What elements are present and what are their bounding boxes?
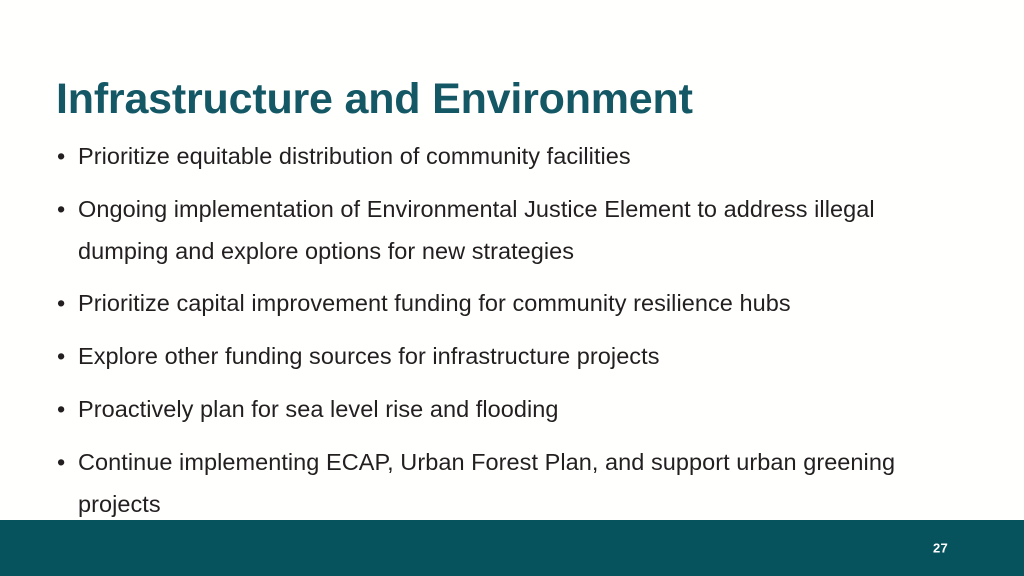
presentation-slide: Infrastructure and Environment • Priorit… (0, 0, 1024, 576)
list-item-text: Explore other funding sources for infras… (78, 336, 956, 378)
list-item: • Explore other funding sources for infr… (56, 336, 956, 378)
bullet-list: • Prioritize equitable distribution of c… (56, 136, 956, 526)
bullet-dot-icon: • (57, 336, 65, 378)
list-item: • Prioritize equitable distribution of c… (56, 136, 956, 178)
list-item-text: Prioritize equitable distribution of com… (78, 136, 956, 178)
bullet-dot-icon: • (57, 389, 65, 431)
bullet-dot-icon: • (57, 442, 65, 484)
list-item-text: Ongoing implementation of Environmental … (78, 189, 956, 273)
bullet-dot-icon: • (57, 189, 65, 231)
list-item: • Proactively plan for sea level rise an… (56, 389, 956, 431)
list-item: • Prioritize capital improvement funding… (56, 283, 956, 325)
list-item-text: Prioritize capital improvement funding f… (78, 283, 956, 325)
page-number: 27 (933, 541, 948, 556)
bullet-dot-icon: • (57, 136, 65, 178)
list-item: • Ongoing implementation of Environmenta… (56, 189, 956, 273)
list-item: • Continue implementing ECAP, Urban Fore… (56, 442, 956, 526)
page-title: Infrastructure and Environment (56, 75, 956, 123)
slide-footer-bar: 27 (0, 520, 1024, 576)
list-item-text: Proactively plan for sea level rise and … (78, 389, 956, 431)
bullet-dot-icon: • (57, 283, 65, 325)
list-item-text: Continue implementing ECAP, Urban Forest… (78, 442, 956, 526)
